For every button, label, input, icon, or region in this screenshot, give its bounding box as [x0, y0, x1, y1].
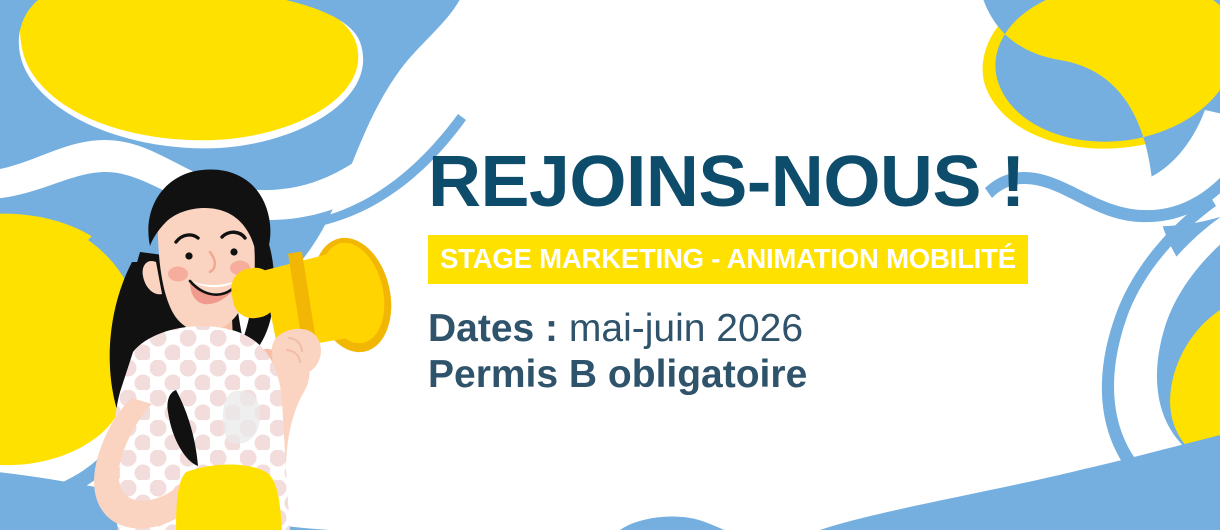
detail-dates: Dates : mai-juin 2026 — [428, 306, 1128, 352]
detail-licence: Permis B obligatoire — [428, 352, 1128, 398]
bottom-center-blue-lip — [620, 516, 724, 530]
eye-right — [230, 248, 237, 255]
subtitle-ribbon: STAGE MARKETING - ANIMATION MOBILITÉ — [428, 235, 1028, 284]
detail-licence-label: Permis B obligatoire — [428, 353, 807, 396]
promo-banner: REJOINS-NOUS ! STAGE MARKETING - ANIMATI… — [0, 0, 1220, 530]
eye-left — [185, 252, 192, 259]
cheek-left — [168, 267, 188, 282]
page-title: REJOINS-NOUS ! — [428, 148, 1142, 217]
skirt — [176, 465, 282, 530]
detail-list: Dates : mai-juin 2026 Permis B obligatoi… — [428, 306, 1128, 399]
hand-fist — [272, 329, 321, 376]
detail-dates-label: Dates : — [428, 307, 558, 350]
copy-block: REJOINS-NOUS ! STAGE MARKETING - ANIMATI… — [428, 148, 1128, 398]
detail-dates-value: mai-juin 2026 — [569, 307, 803, 350]
